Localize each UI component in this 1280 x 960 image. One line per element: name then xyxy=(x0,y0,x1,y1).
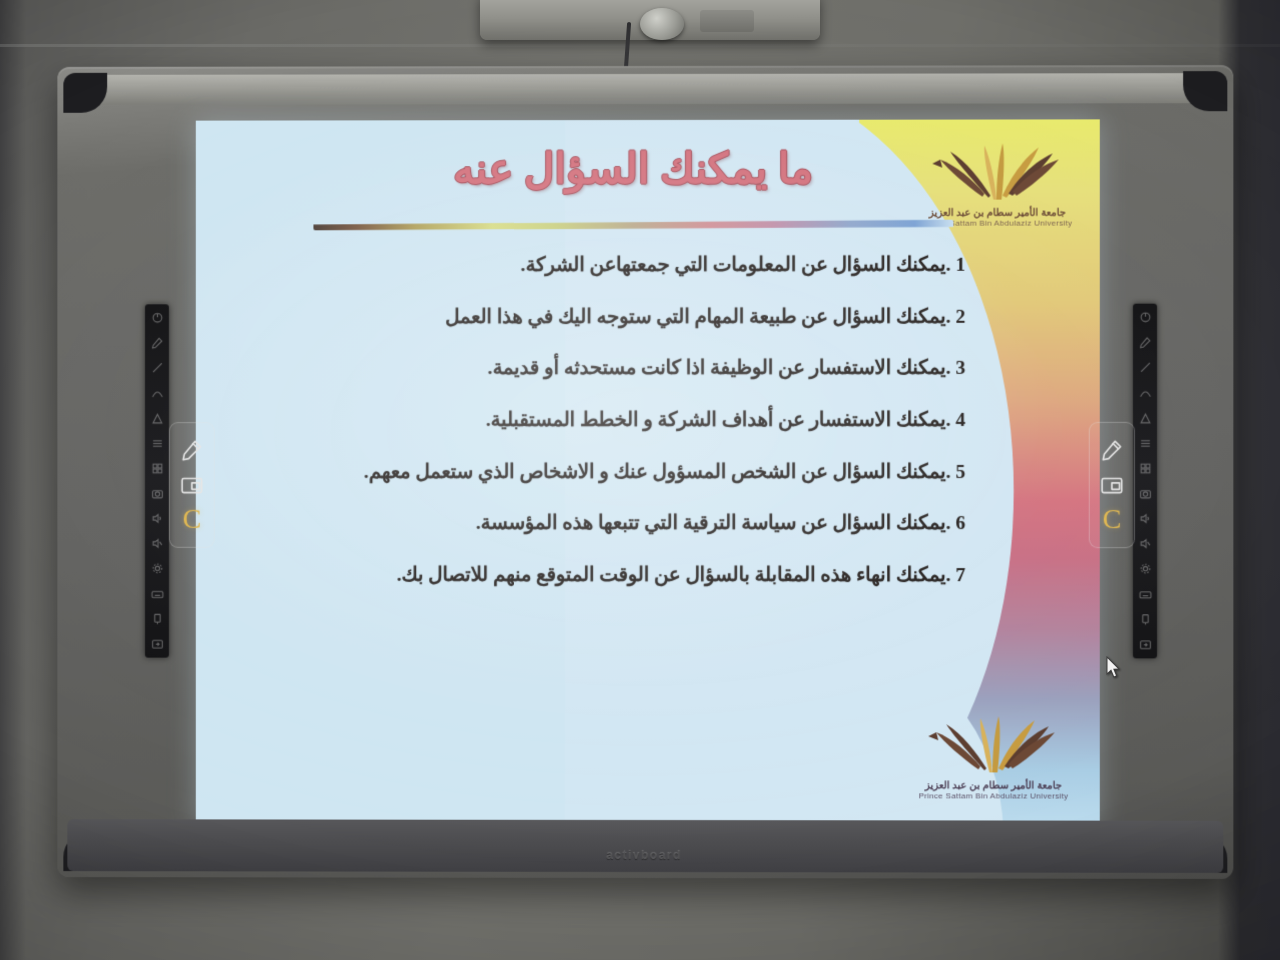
grid-icon[interactable] xyxy=(150,462,163,475)
keyboard-icon[interactable] xyxy=(1138,588,1151,601)
corner-cap-top-left xyxy=(63,73,107,113)
slide-title: ما يمكنك السؤال عنه xyxy=(313,144,953,195)
usb-icon[interactable] xyxy=(1138,613,1151,626)
grid-icon[interactable] xyxy=(1138,462,1151,475)
line-icon[interactable] xyxy=(150,361,163,374)
pen-toolbar-left[interactable]: C xyxy=(169,422,215,548)
wall-edge-left xyxy=(0,0,26,960)
mouse-pointer-icon xyxy=(1106,656,1122,680)
shape-icon[interactable] xyxy=(1138,411,1151,424)
menu-icon[interactable] xyxy=(150,437,163,450)
bezel-top xyxy=(71,73,1219,105)
projector-lens-icon xyxy=(640,8,684,40)
volume-down-icon[interactable] xyxy=(150,537,163,550)
undo-icon[interactable]: C xyxy=(183,507,202,533)
corner-cap-top-right xyxy=(1183,71,1227,111)
projected-slide: جامعة الأمير سطام بن عبد العزيز Prince S… xyxy=(196,119,1100,826)
power-icon[interactable] xyxy=(1138,311,1151,324)
interactive-whiteboard[interactable]: جامعة الأمير سطام بن عبد العزيز Prince S… xyxy=(57,65,1233,879)
slide-bullet-item: 1 .يمكنك السؤال عن المعلومات التي جمعتها… xyxy=(266,252,966,280)
volume-icon[interactable] xyxy=(150,512,163,525)
select-shape-icon[interactable] xyxy=(179,472,205,498)
slide-bullet-item: 6 .يمكنك السؤال عن سياسة الترقية التي تت… xyxy=(266,510,966,538)
logo-english-text: Prince Sattam Bin Abdulaziz University xyxy=(907,791,1079,800)
projector-vent xyxy=(700,10,754,32)
input-icon[interactable] xyxy=(1138,638,1151,651)
settings-icon[interactable] xyxy=(150,562,163,575)
undo-icon[interactable]: C xyxy=(1102,507,1121,533)
slide-bullet-list: 1 .يمكنك السؤال عن المعلومات التي جمعتها… xyxy=(266,252,966,614)
slide-bullet-item: 4 .يمكنك الاستفسار عن أهداف الشركة و الخ… xyxy=(266,407,966,435)
pen-icon[interactable] xyxy=(150,336,163,349)
logo-arabic-text: جامعة الأمير سطام بن عبد العزيز xyxy=(907,780,1079,791)
pen-icon[interactable] xyxy=(1138,336,1151,349)
curve-icon[interactable] xyxy=(1138,386,1151,399)
volume-down-icon[interactable] xyxy=(1138,537,1151,550)
power-icon[interactable] xyxy=(150,311,163,324)
volume-icon[interactable] xyxy=(1138,512,1151,525)
line-icon[interactable] xyxy=(1138,361,1151,374)
slide-bullet-item: 7 .يمكنك انهاء هذه المقابلة بالسؤال عن ا… xyxy=(305,562,965,590)
slide-bullet-item: 2 .يمكنك السؤال عن طبيعة المهام التي ستو… xyxy=(266,303,966,331)
university-logo-bottom: جامعة الأمير سطام بن عبد العزيز Prince S… xyxy=(907,706,1079,800)
camera-icon[interactable] xyxy=(1138,487,1151,500)
pen-icon[interactable] xyxy=(179,437,205,463)
select-shape-icon[interactable] xyxy=(1099,472,1125,498)
keyboard-icon[interactable] xyxy=(150,587,163,600)
classroom-scene: جامعة الأمير سطام بن عبد العزيز Prince S… xyxy=(0,0,1280,960)
ceiling-seam xyxy=(0,44,1280,47)
input-icon[interactable] xyxy=(150,638,163,651)
camera-icon[interactable] xyxy=(150,487,163,500)
logo-arabic-text: جامعة الأمير سطام بن عبد العزيز xyxy=(911,208,1083,219)
curve-icon[interactable] xyxy=(150,387,163,400)
open-book-logo-icon xyxy=(918,706,1068,778)
board-icon-rail-right[interactable] xyxy=(1133,304,1157,659)
slide-bullet-item: 3 .يمكنك الاستفسار عن الوظيفة اذا كانت م… xyxy=(266,355,966,383)
board-brand-label: activboard xyxy=(57,847,1233,863)
shape-icon[interactable] xyxy=(150,412,163,425)
pen-icon[interactable] xyxy=(1099,437,1125,463)
menu-icon[interactable] xyxy=(1138,437,1151,450)
settings-icon[interactable] xyxy=(1138,563,1151,576)
slide-bullet-item: 5 .يمكنك السؤال عن الشخص المسؤول عنك و ا… xyxy=(305,459,965,487)
bezel-bottom xyxy=(67,819,1223,873)
pen-toolbar-right[interactable]: C xyxy=(1089,422,1135,548)
usb-icon[interactable] xyxy=(150,612,163,625)
board-icon-rail-left[interactable] xyxy=(145,304,169,657)
